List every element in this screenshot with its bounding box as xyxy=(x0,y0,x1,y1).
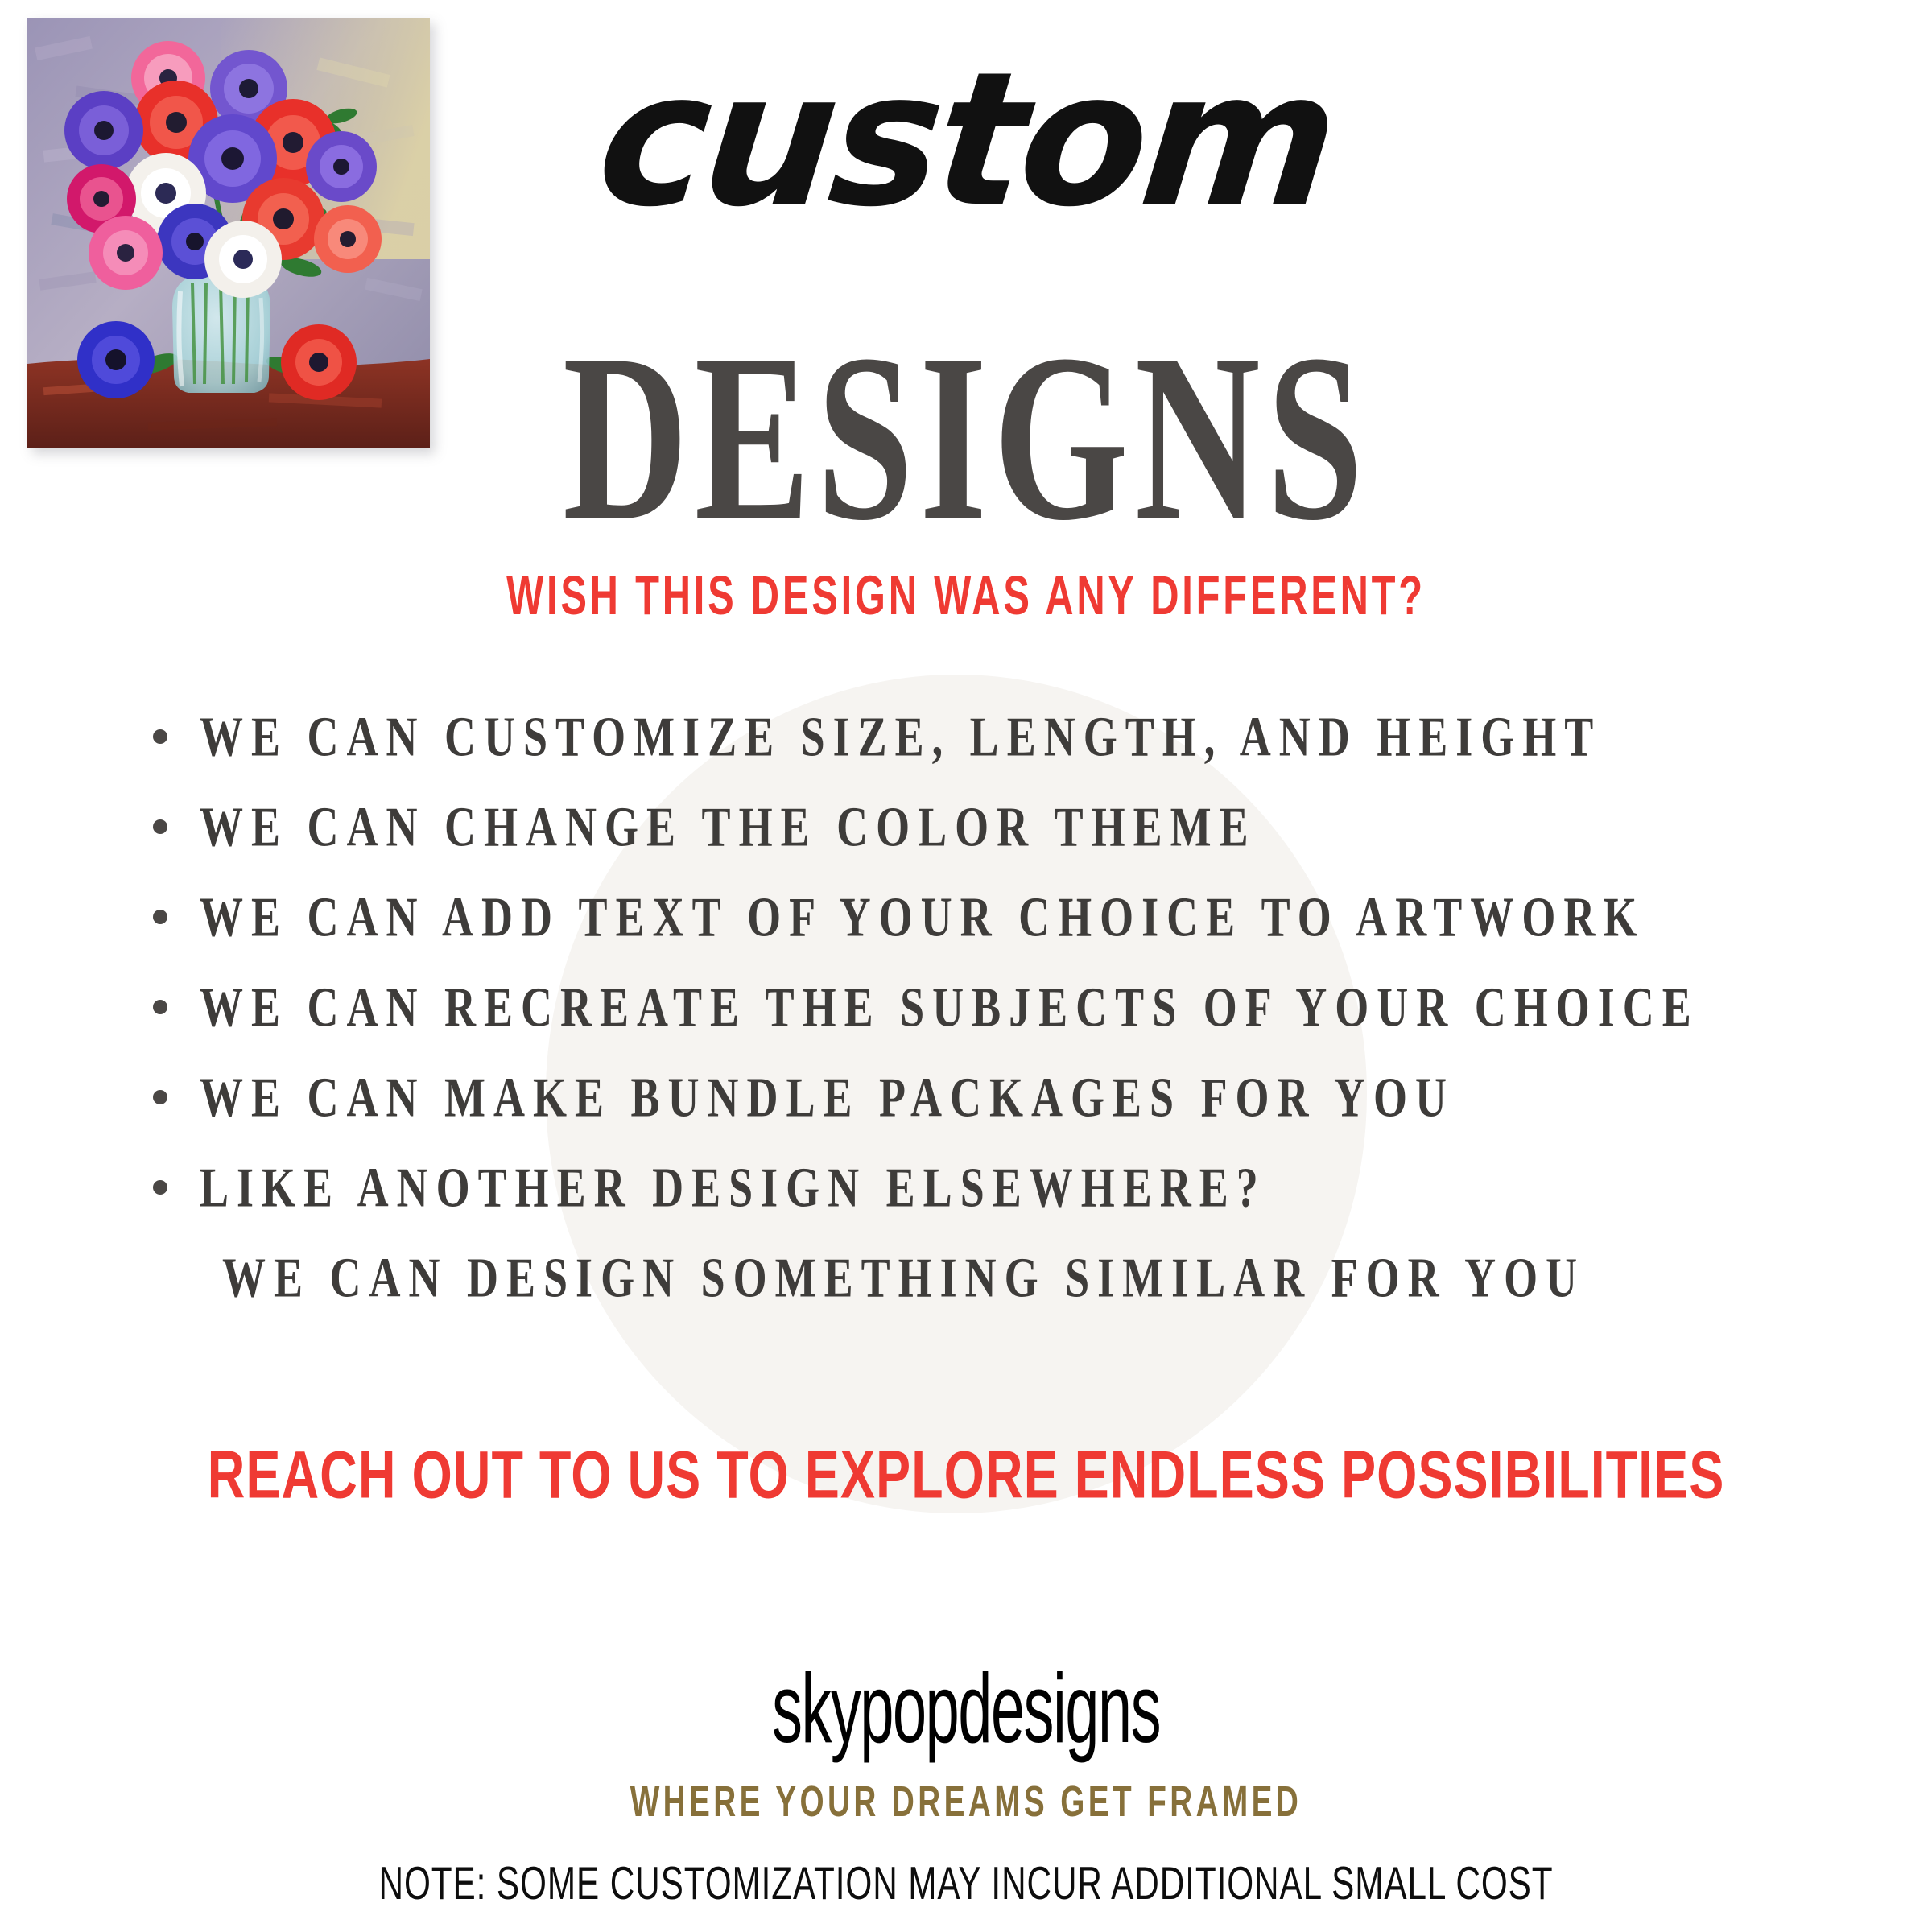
bullet-dot-icon xyxy=(153,1000,167,1014)
list-item: WE CAN RECREATE THE SUBJECTS OF YOUR CHO… xyxy=(153,979,1843,1069)
list-item-label: WE CAN CHANGE THE COLOR THEME xyxy=(200,799,1257,855)
bullet-dot-icon xyxy=(153,910,167,924)
subtitle-question: WISH THIS DESIGN WAS ANY DIFFERENT? xyxy=(58,568,1874,624)
bullet-dot-icon xyxy=(153,819,167,834)
list-item: LIKE ANOTHER DESIGN ELSEWHERE? xyxy=(153,1159,1843,1249)
list-item-label: WE CAN RECREATE THE SUBJECTS OF YOUR CHO… xyxy=(200,979,1699,1035)
artwork-thumbnail xyxy=(27,18,430,448)
list-item-label: LIKE ANOTHER DESIGN ELSEWHERE? xyxy=(200,1159,1266,1216)
list-item-label: WE CAN ADD TEXT OF YOUR CHOICE TO ARTWOR… xyxy=(200,889,1645,945)
benefits-list: WE CAN CUSTOMIZE SIZE, LENGTH, AND HEIGH… xyxy=(153,708,1843,1340)
list-item: WE CAN MAKE BUNDLE PACKAGES FOR YOU xyxy=(153,1069,1843,1159)
bullet-dot-icon xyxy=(153,1090,167,1104)
bullet-dot-icon xyxy=(153,1180,167,1195)
brand-tagline: WHERE YOUR DREAMS GET FRAMED xyxy=(116,1781,1816,1824)
list-item-label: WE CAN DESIGN SOMETHING SIMILAR FOR YOU xyxy=(222,1249,1585,1306)
list-item-label: WE CAN CUSTOMIZE SIZE, LENGTH, AND HEIGH… xyxy=(200,708,1601,765)
list-item-continuation: WE CAN DESIGN SOMETHING SIMILAR FOR YOU xyxy=(153,1249,1843,1340)
flower-painting-illustration xyxy=(27,18,430,448)
call-to-action-text: REACH OUT TO US TO EXPLORE ENDLESS POSSI… xyxy=(19,1441,1913,1508)
list-item: WE CAN CHANGE THE COLOR THEME xyxy=(153,799,1843,889)
disclaimer-note: NOTE: SOME CUSTOMIZATION MAY INCUR ADDIT… xyxy=(97,1860,1835,1905)
list-item: WE CAN ADD TEXT OF YOUR CHOICE TO ARTWOR… xyxy=(153,889,1843,979)
brand-logo-text: skypopdesigns xyxy=(193,1661,1739,1759)
bullet-dot-icon xyxy=(153,729,167,744)
list-item: WE CAN CUSTOMIZE SIZE, LENGTH, AND HEIGH… xyxy=(153,708,1843,799)
list-item-label: WE CAN MAKE BUNDLE PACKAGES FOR YOU xyxy=(200,1069,1455,1125)
